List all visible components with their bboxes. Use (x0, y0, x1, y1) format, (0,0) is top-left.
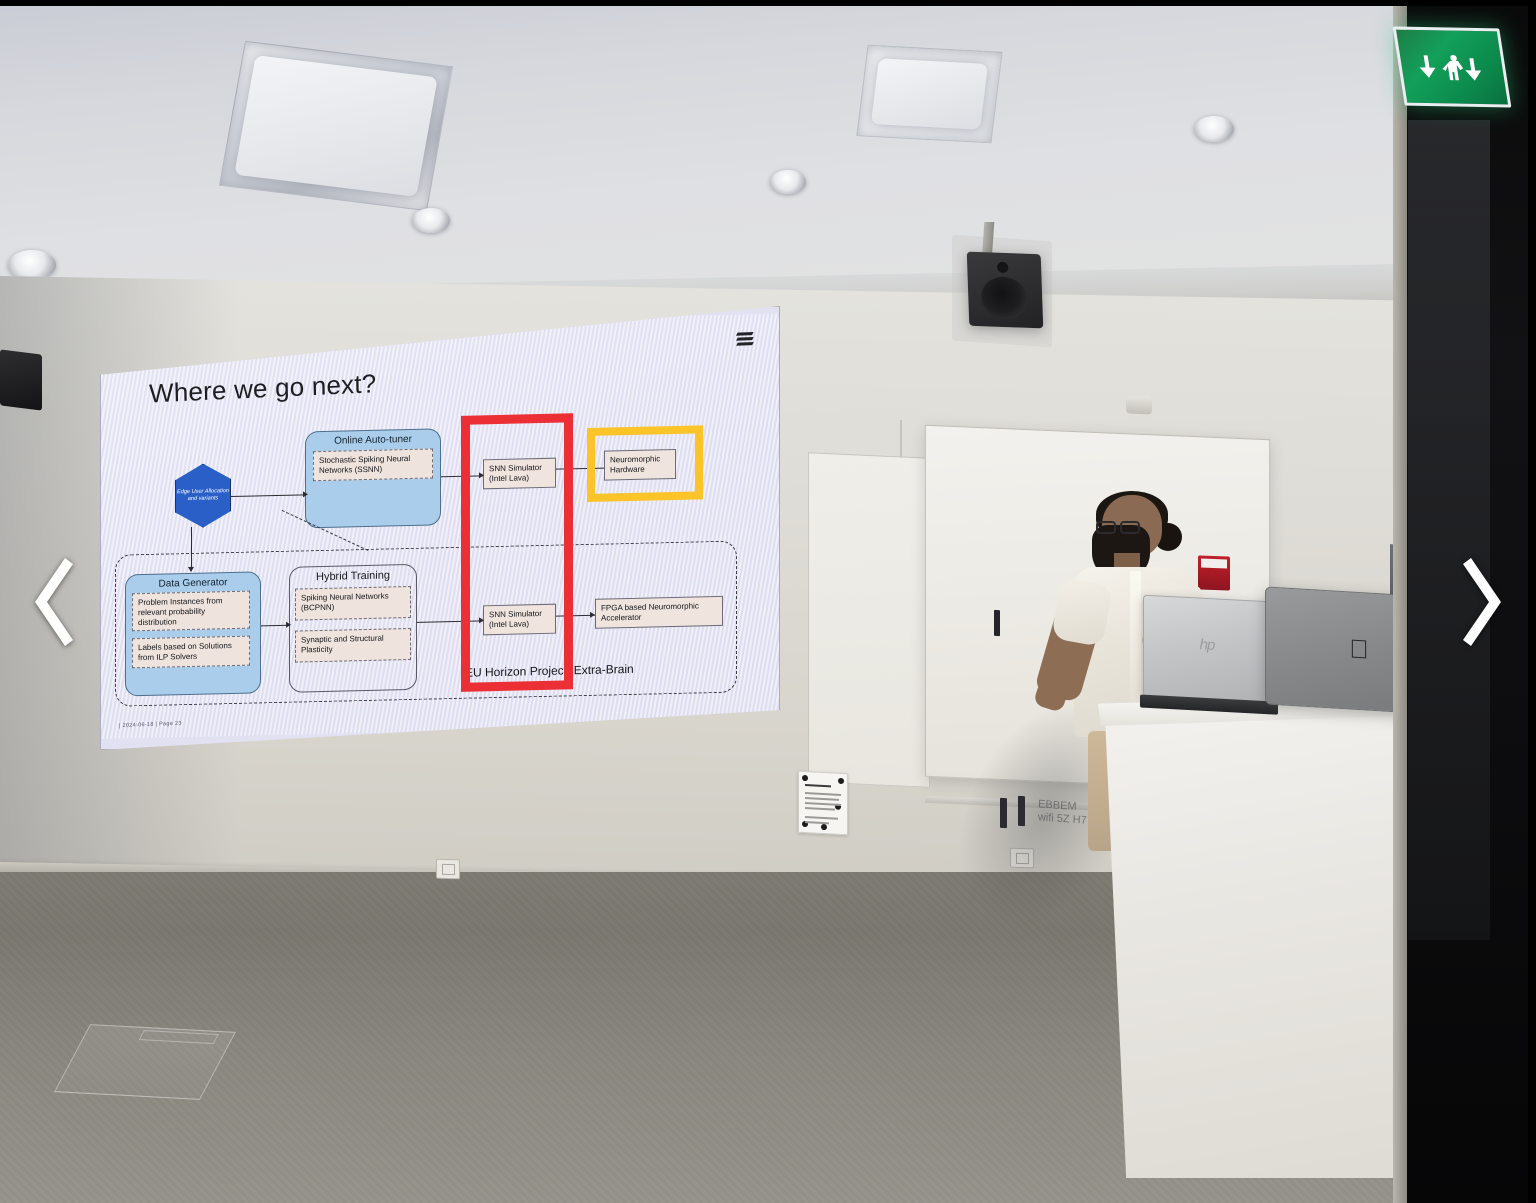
whiteboard-marker-icon (994, 610, 1000, 636)
slide-footer: | 2024-06-18 | Page 23 (119, 721, 182, 730)
diagram-group-title: Data Generator (126, 576, 260, 590)
wall-speaker-icon (967, 252, 1044, 329)
letterbox-right (1528, 0, 1536, 1203)
slide-title: Where we go next? (149, 368, 377, 409)
image-viewer: Where we go next? Edge User Allocation a… (0, 0, 1536, 1203)
ceiling-sensor-icon (1126, 396, 1152, 415)
ceiling-panel-icon (856, 45, 1002, 143)
previous-image-button[interactable] (14, 542, 88, 662)
next-image-button[interactable] (1448, 542, 1522, 662)
diagram-node-snn-bcpnn: Spiking Neural Networks (BCPNN) (295, 586, 411, 621)
wall-socket-icon (436, 859, 460, 880)
diagram-node-problem-instances: Problem Instances from relevant probabil… (132, 591, 250, 632)
door-glass (1408, 120, 1490, 940)
chevron-left-icon (25, 554, 77, 650)
diagram-arrow-icon (188, 567, 194, 572)
diagram-connector (191, 527, 192, 571)
diagram-node-ssnn: Stochastic Spiking Neural Networks (SSNN… (313, 448, 433, 481)
diagram-arrow-icon (479, 617, 484, 623)
diagram-node-edge-user: Edge User Allocation and variants (175, 463, 231, 528)
diagram-node-fpga-accelerator: FPGA based Neuromorphic Accelerator (595, 596, 723, 629)
hp-logo-icon: hp (1200, 636, 1215, 654)
projection-screen: Where we go next? Edge User Allocation a… (100, 306, 780, 750)
ceiling-vent-icon (219, 41, 453, 211)
chevron-right-icon (1459, 554, 1511, 650)
diagram-node-snn-simulator-top: SNN Simulator (Intel Lava) (483, 458, 556, 490)
diagram-node-snn-simulator-bottom: SNN Simulator (Intel Lava) (483, 604, 556, 636)
wall-speaker-box-icon (0, 349, 42, 410)
ceiling-downlight-icon (1194, 116, 1234, 142)
photo-canvas: Where we go next? Edge User Allocation a… (0, 0, 1536, 1203)
diagram-arrow-icon (286, 622, 291, 628)
emergency-exit-sign-icon (1393, 26, 1512, 107)
diagram-node-synaptic-plasticity: Synaptic and Structural Plasticity (295, 628, 411, 663)
door-frame (1393, 0, 1407, 1203)
diagram-node-labels-ilp: Labels based on Solutions from ILP Solve… (132, 636, 250, 669)
diagram-node-neuromorphic-hardware: Neuromorphic Hardware (604, 449, 676, 481)
apple-logo-icon:  (1349, 635, 1369, 662)
diagram-connector (556, 468, 604, 470)
diagram-connector (231, 494, 305, 497)
diagram-group-title: Hybrid Training (290, 569, 416, 584)
letterbox-top (0, 0, 1536, 6)
hp-laptop: hp (1143, 595, 1271, 704)
diagram-connector (441, 475, 483, 477)
diagram-arrow-icon (479, 472, 484, 478)
whiteboard-panel-left (808, 452, 930, 788)
glasses-icon (1096, 521, 1148, 534)
wall-notice-sheet (798, 771, 848, 836)
slide-surface: Where we go next? Edge User Allocation a… (101, 314, 780, 739)
ericsson-logo-icon (737, 332, 753, 347)
ceiling-downlight-icon (412, 208, 450, 233)
diagram-arrow-icon (590, 612, 595, 618)
diagram-arrow-icon (303, 491, 308, 497)
diagram-group-title: Online Auto-tuner (306, 433, 440, 447)
ceiling-downlight-icon (770, 170, 806, 194)
